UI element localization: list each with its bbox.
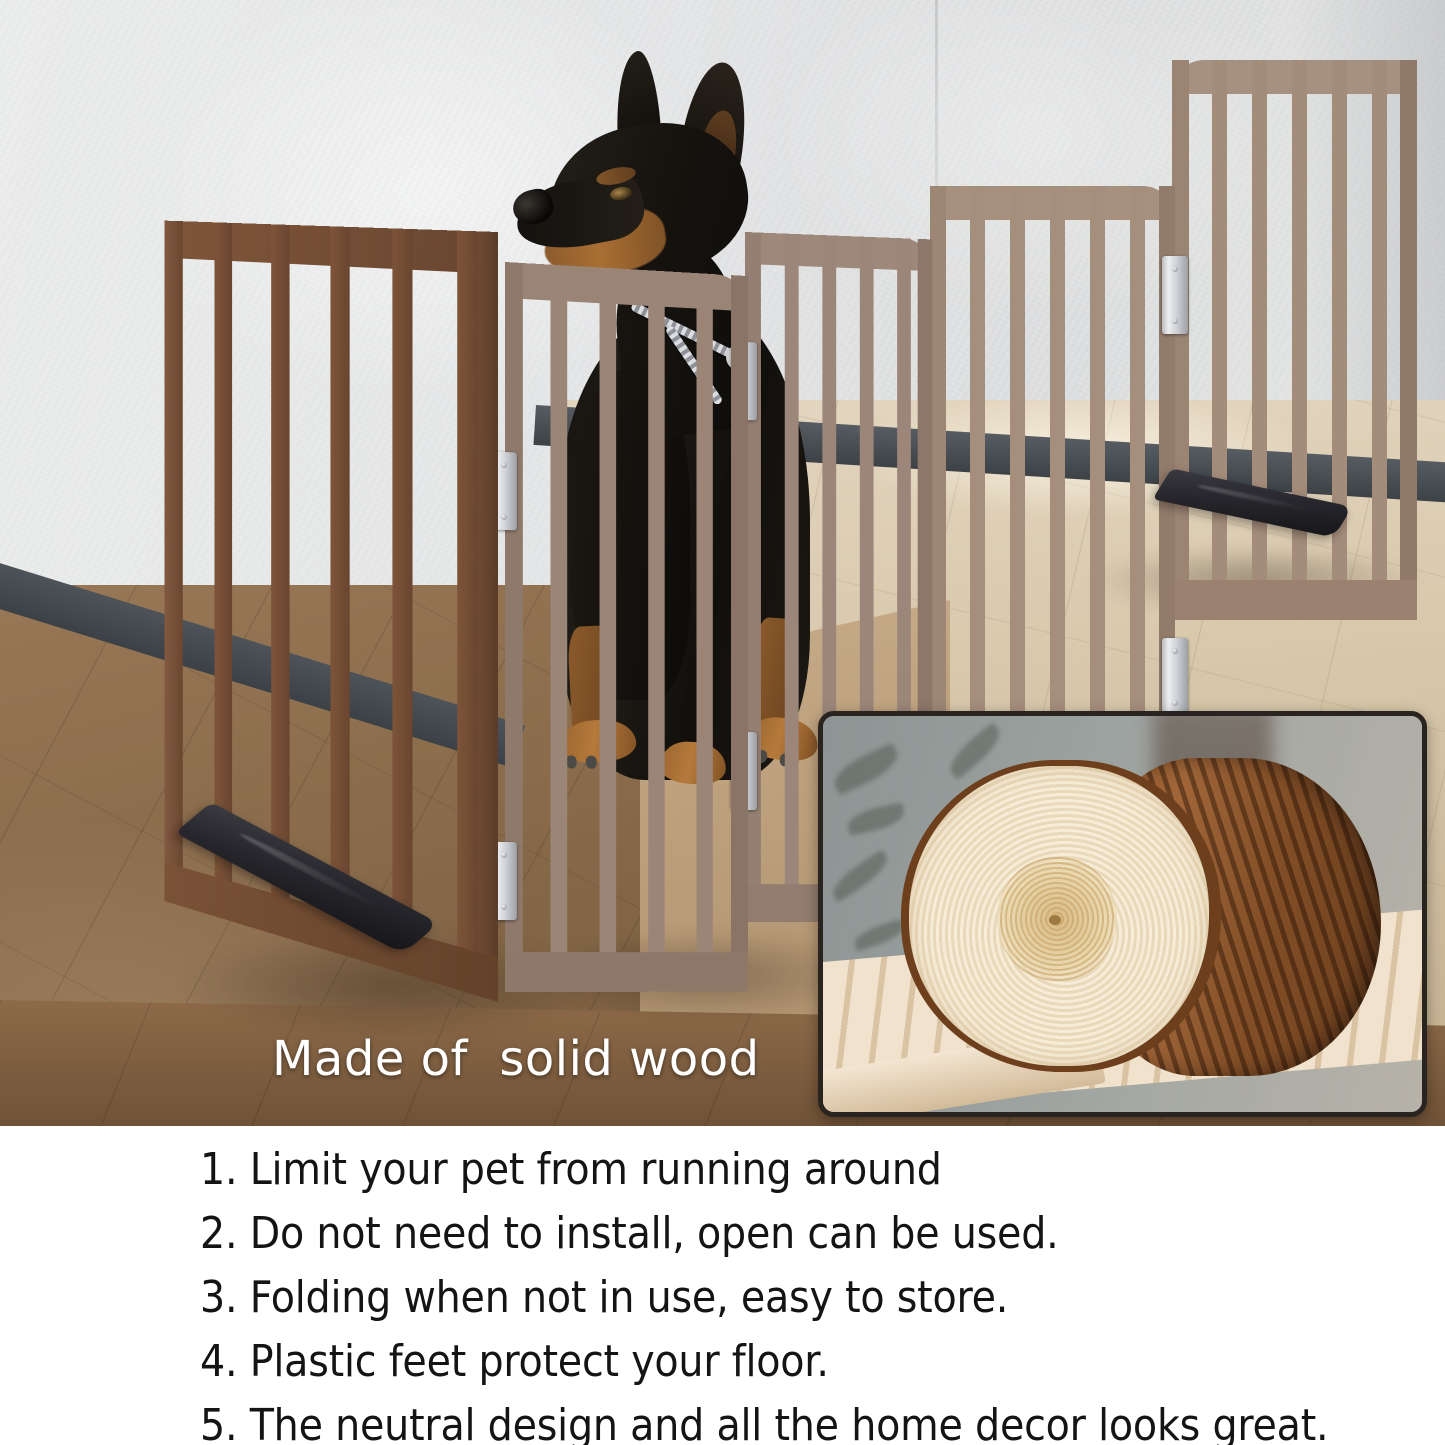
- panel-1-slat: [457, 231, 478, 996]
- gate-panel-5: [1172, 60, 1417, 620]
- list-item: 1. Limit your pet from running around: [200, 1146, 942, 1194]
- panel-1-stile-right: [478, 231, 498, 1002]
- product-photo: Made of solid wood: [0, 0, 1445, 1126]
- feature-list: 1. Limit your pet from running around 2.…: [0, 1126, 1445, 1445]
- panel-2-slat: [648, 270, 664, 991]
- gate-panel-2: [505, 262, 748, 992]
- panel-2-bottom-rail: [505, 952, 748, 992]
- panel-5-slat: [1292, 60, 1307, 620]
- panel-1-slat: [330, 226, 349, 957]
- panel-4-hinge-bottom: [1162, 638, 1188, 716]
- panel-3-slat: [785, 234, 799, 923]
- panel-1-slat: [392, 228, 412, 976]
- panel-2-slat: [600, 267, 617, 991]
- panel-4-hinge-top: [1162, 256, 1188, 334]
- inset-log-photo: [818, 711, 1427, 1117]
- product-image-page: Made of solid wood 1. Limit your pet fro…: [0, 0, 1445, 1445]
- list-item: 5. The neutral design and all the home d…: [200, 1402, 1328, 1445]
- panel-5-stile-right: [1400, 60, 1417, 620]
- panel-5-bottom-rail: [1172, 580, 1417, 620]
- panel-1-stile-left: [164, 221, 182, 907]
- panel-1-slat: [271, 224, 289, 939]
- list-item: 4. Plastic feet protect your floor.: [200, 1338, 829, 1386]
- log-cross-section: [901, 752, 1371, 1082]
- panel-5-slat: [1332, 60, 1347, 620]
- panel-2-slat: [550, 265, 567, 992]
- log-pith-center: [1049, 915, 1061, 925]
- panel-5-slat: [1372, 60, 1387, 620]
- list-item: 2. Do not need to install, open can be u…: [200, 1210, 1059, 1258]
- list-item: 3. Folding when not in use, easy to stor…: [200, 1274, 1008, 1322]
- panel-5-slat: [1212, 60, 1227, 620]
- panel-2-slat: [696, 273, 712, 992]
- panel-5-slat: [1252, 60, 1267, 620]
- photo-caption: Made of solid wood: [272, 1031, 760, 1087]
- panel-2-stile-right: [731, 275, 748, 991]
